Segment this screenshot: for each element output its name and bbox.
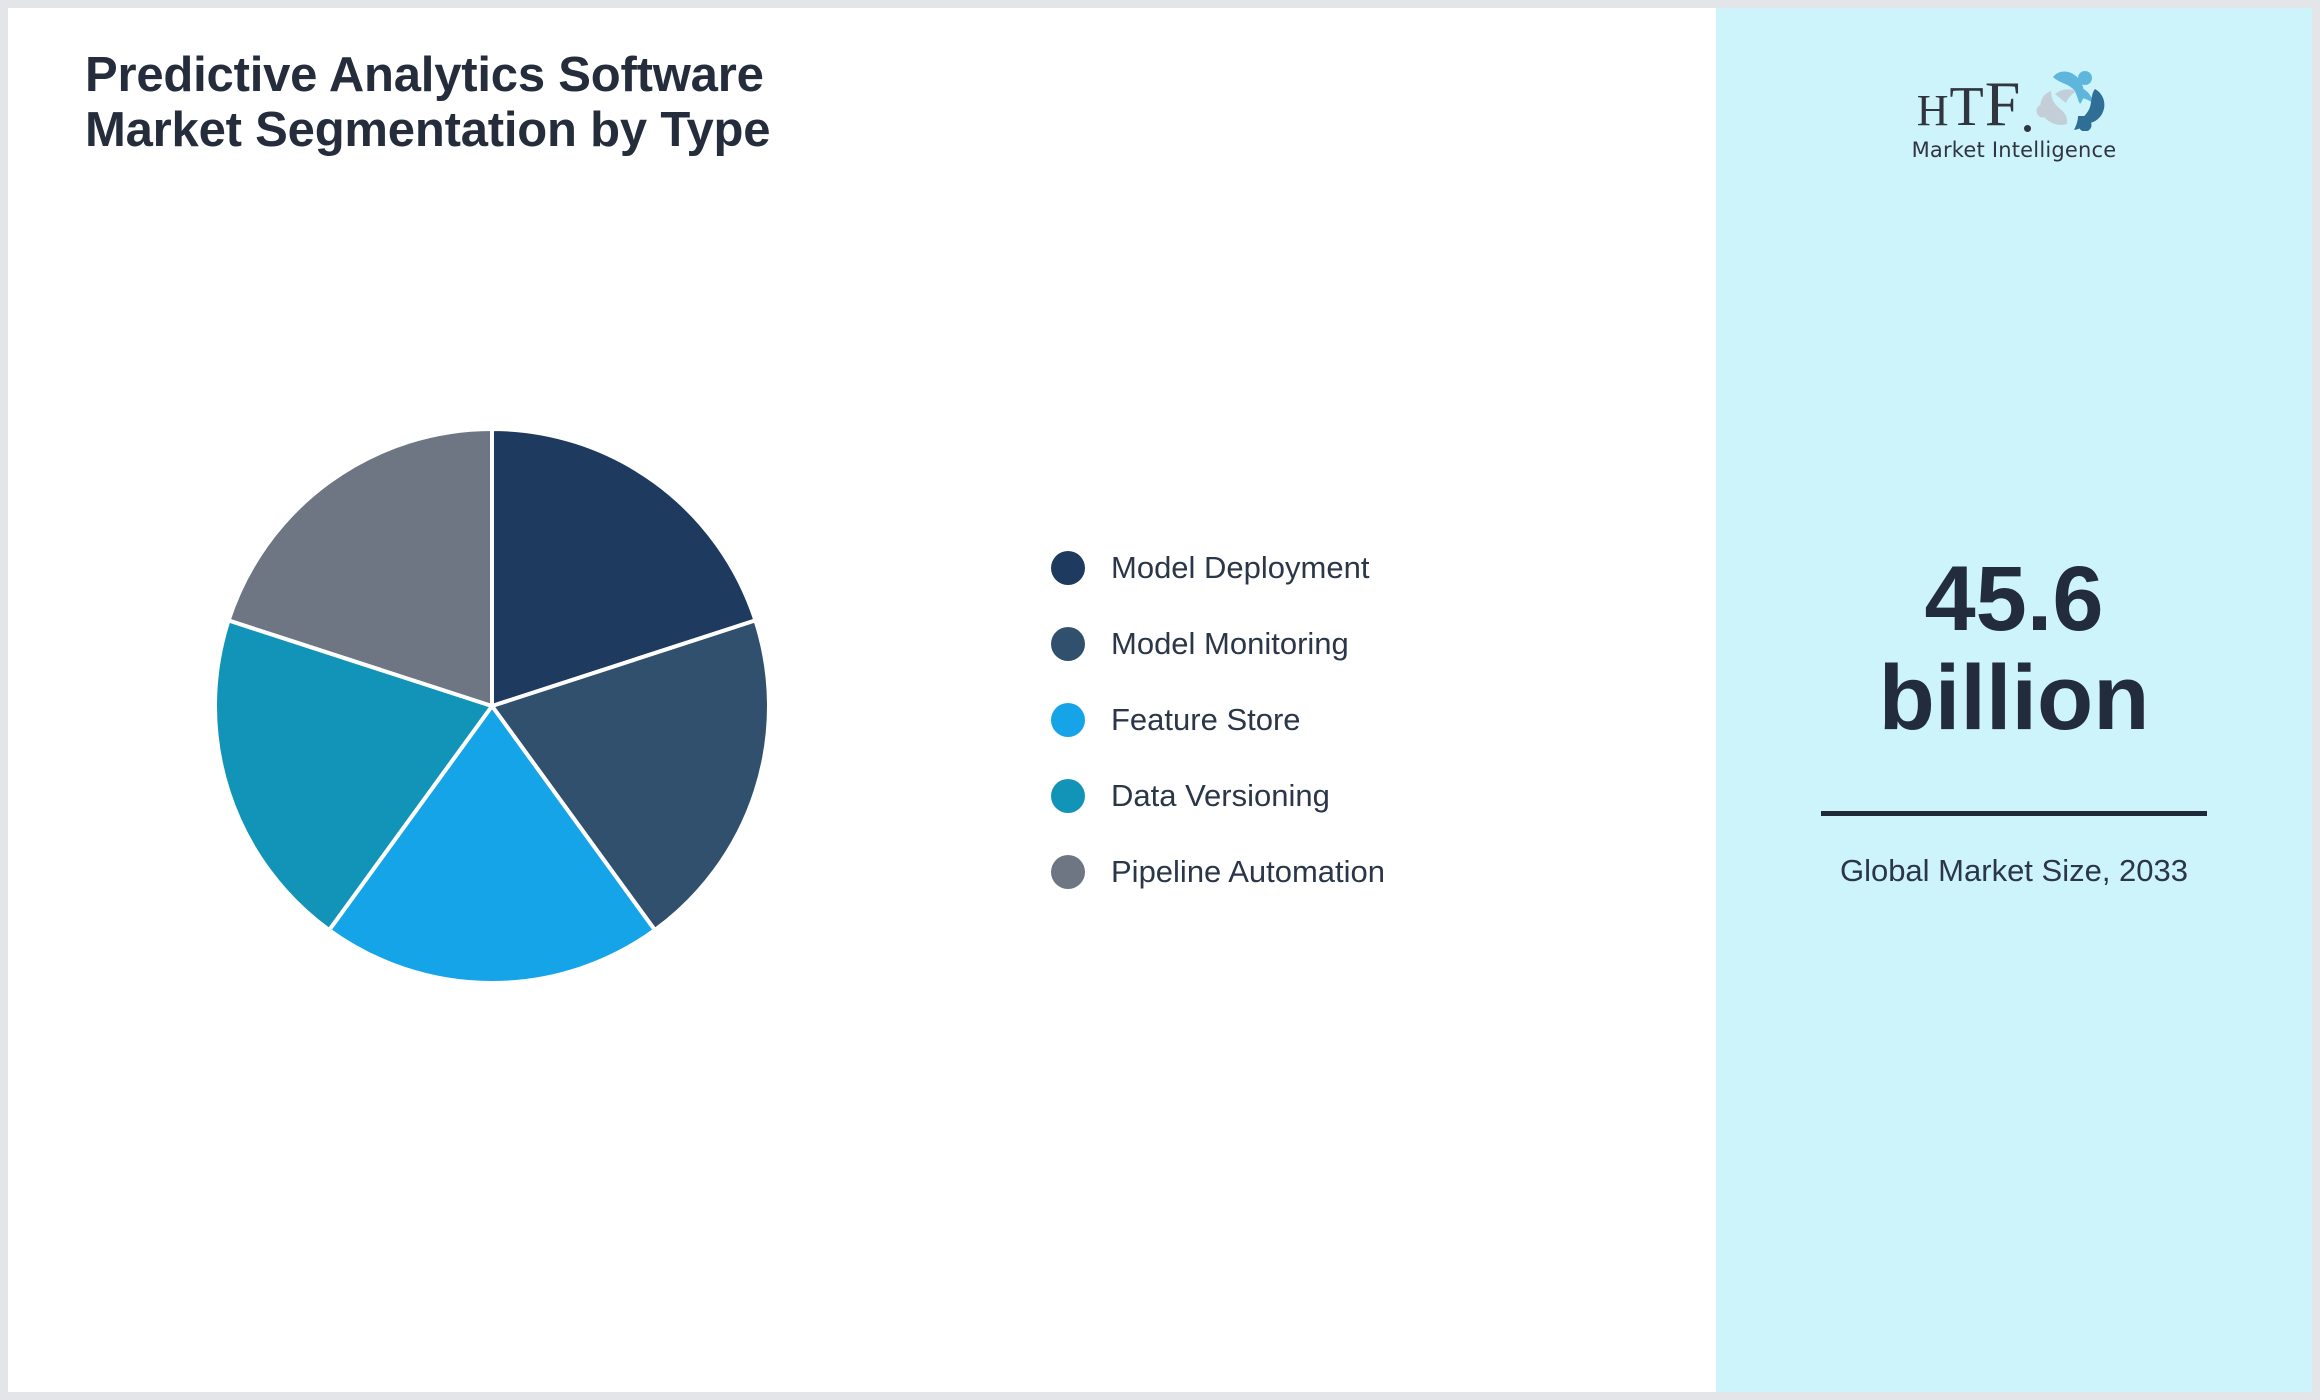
pie-chart [215, 429, 769, 983]
brand-wordmark: H T F [1917, 72, 2022, 136]
triskelion-svg [2033, 61, 2111, 131]
brand-letter-f: F [1985, 72, 2022, 136]
pie-chart-svg [215, 429, 769, 983]
legend-swatch-icon [1051, 551, 1085, 585]
brand-letter-h: H [1917, 89, 1950, 133]
chart-panel: Predictive Analytics Software Market Seg… [8, 8, 1716, 1392]
figure-light-blue [2053, 71, 2093, 104]
legend-label: Model Deployment [1111, 550, 1369, 586]
stat-panel: H T F [1716, 8, 2312, 1392]
stat-block: 45.6 billion Global Market Size, 2033 [1716, 550, 2312, 892]
chart-legend: Model Deployment Model Monitoring Featur… [1051, 530, 1611, 910]
stat-value-line-2: billion [1756, 649, 2272, 748]
legend-swatch-icon [1051, 703, 1085, 737]
legend-item-model-deployment[interactable]: Model Deployment [1051, 530, 1611, 606]
stat-value: 45.6 billion [1716, 550, 2312, 749]
legend-label: Feature Store [1111, 702, 1301, 738]
legend-label: Pipeline Automation [1111, 854, 1385, 890]
legend-swatch-icon [1051, 627, 1085, 661]
stat-divider [1821, 811, 2207, 816]
figure-grey [2037, 89, 2077, 125]
brand-logo: H T F [1716, 64, 2312, 174]
legend-item-feature-store[interactable]: Feature Store [1051, 682, 1611, 758]
infographic-root: Predictive Analytics Software Market Seg… [0, 0, 2320, 1400]
brand-triskelion-figures-icon [2033, 61, 2111, 136]
stat-value-line-1: 45.6 [1756, 550, 2272, 649]
pie-slice-group [215, 429, 769, 983]
brand-letter-t: T [1949, 79, 1984, 135]
legend-label: Data Versioning [1111, 778, 1330, 814]
brand-tagline: Market Intelligence [1912, 138, 2117, 162]
legend-item-model-monitoring[interactable]: Model Monitoring [1051, 606, 1611, 682]
legend-label: Model Monitoring [1111, 626, 1349, 662]
stat-caption: Global Market Size, 2033 [1716, 850, 2312, 892]
legend-swatch-icon [1051, 779, 1085, 813]
page-title-line-2: Market Segmentation by Type [85, 103, 1085, 158]
page-title: Predictive Analytics Software Market Seg… [85, 48, 1085, 159]
legend-swatch-icon [1051, 855, 1085, 889]
brand-period-icon [2024, 125, 2031, 132]
page-title-line-1: Predictive Analytics Software [85, 48, 1085, 103]
legend-item-data-versioning[interactable]: Data Versioning [1051, 758, 1611, 834]
brand-logo-top: H T F [1917, 64, 2112, 136]
legend-item-pipeline-automation[interactable]: Pipeline Automation [1051, 834, 1611, 910]
